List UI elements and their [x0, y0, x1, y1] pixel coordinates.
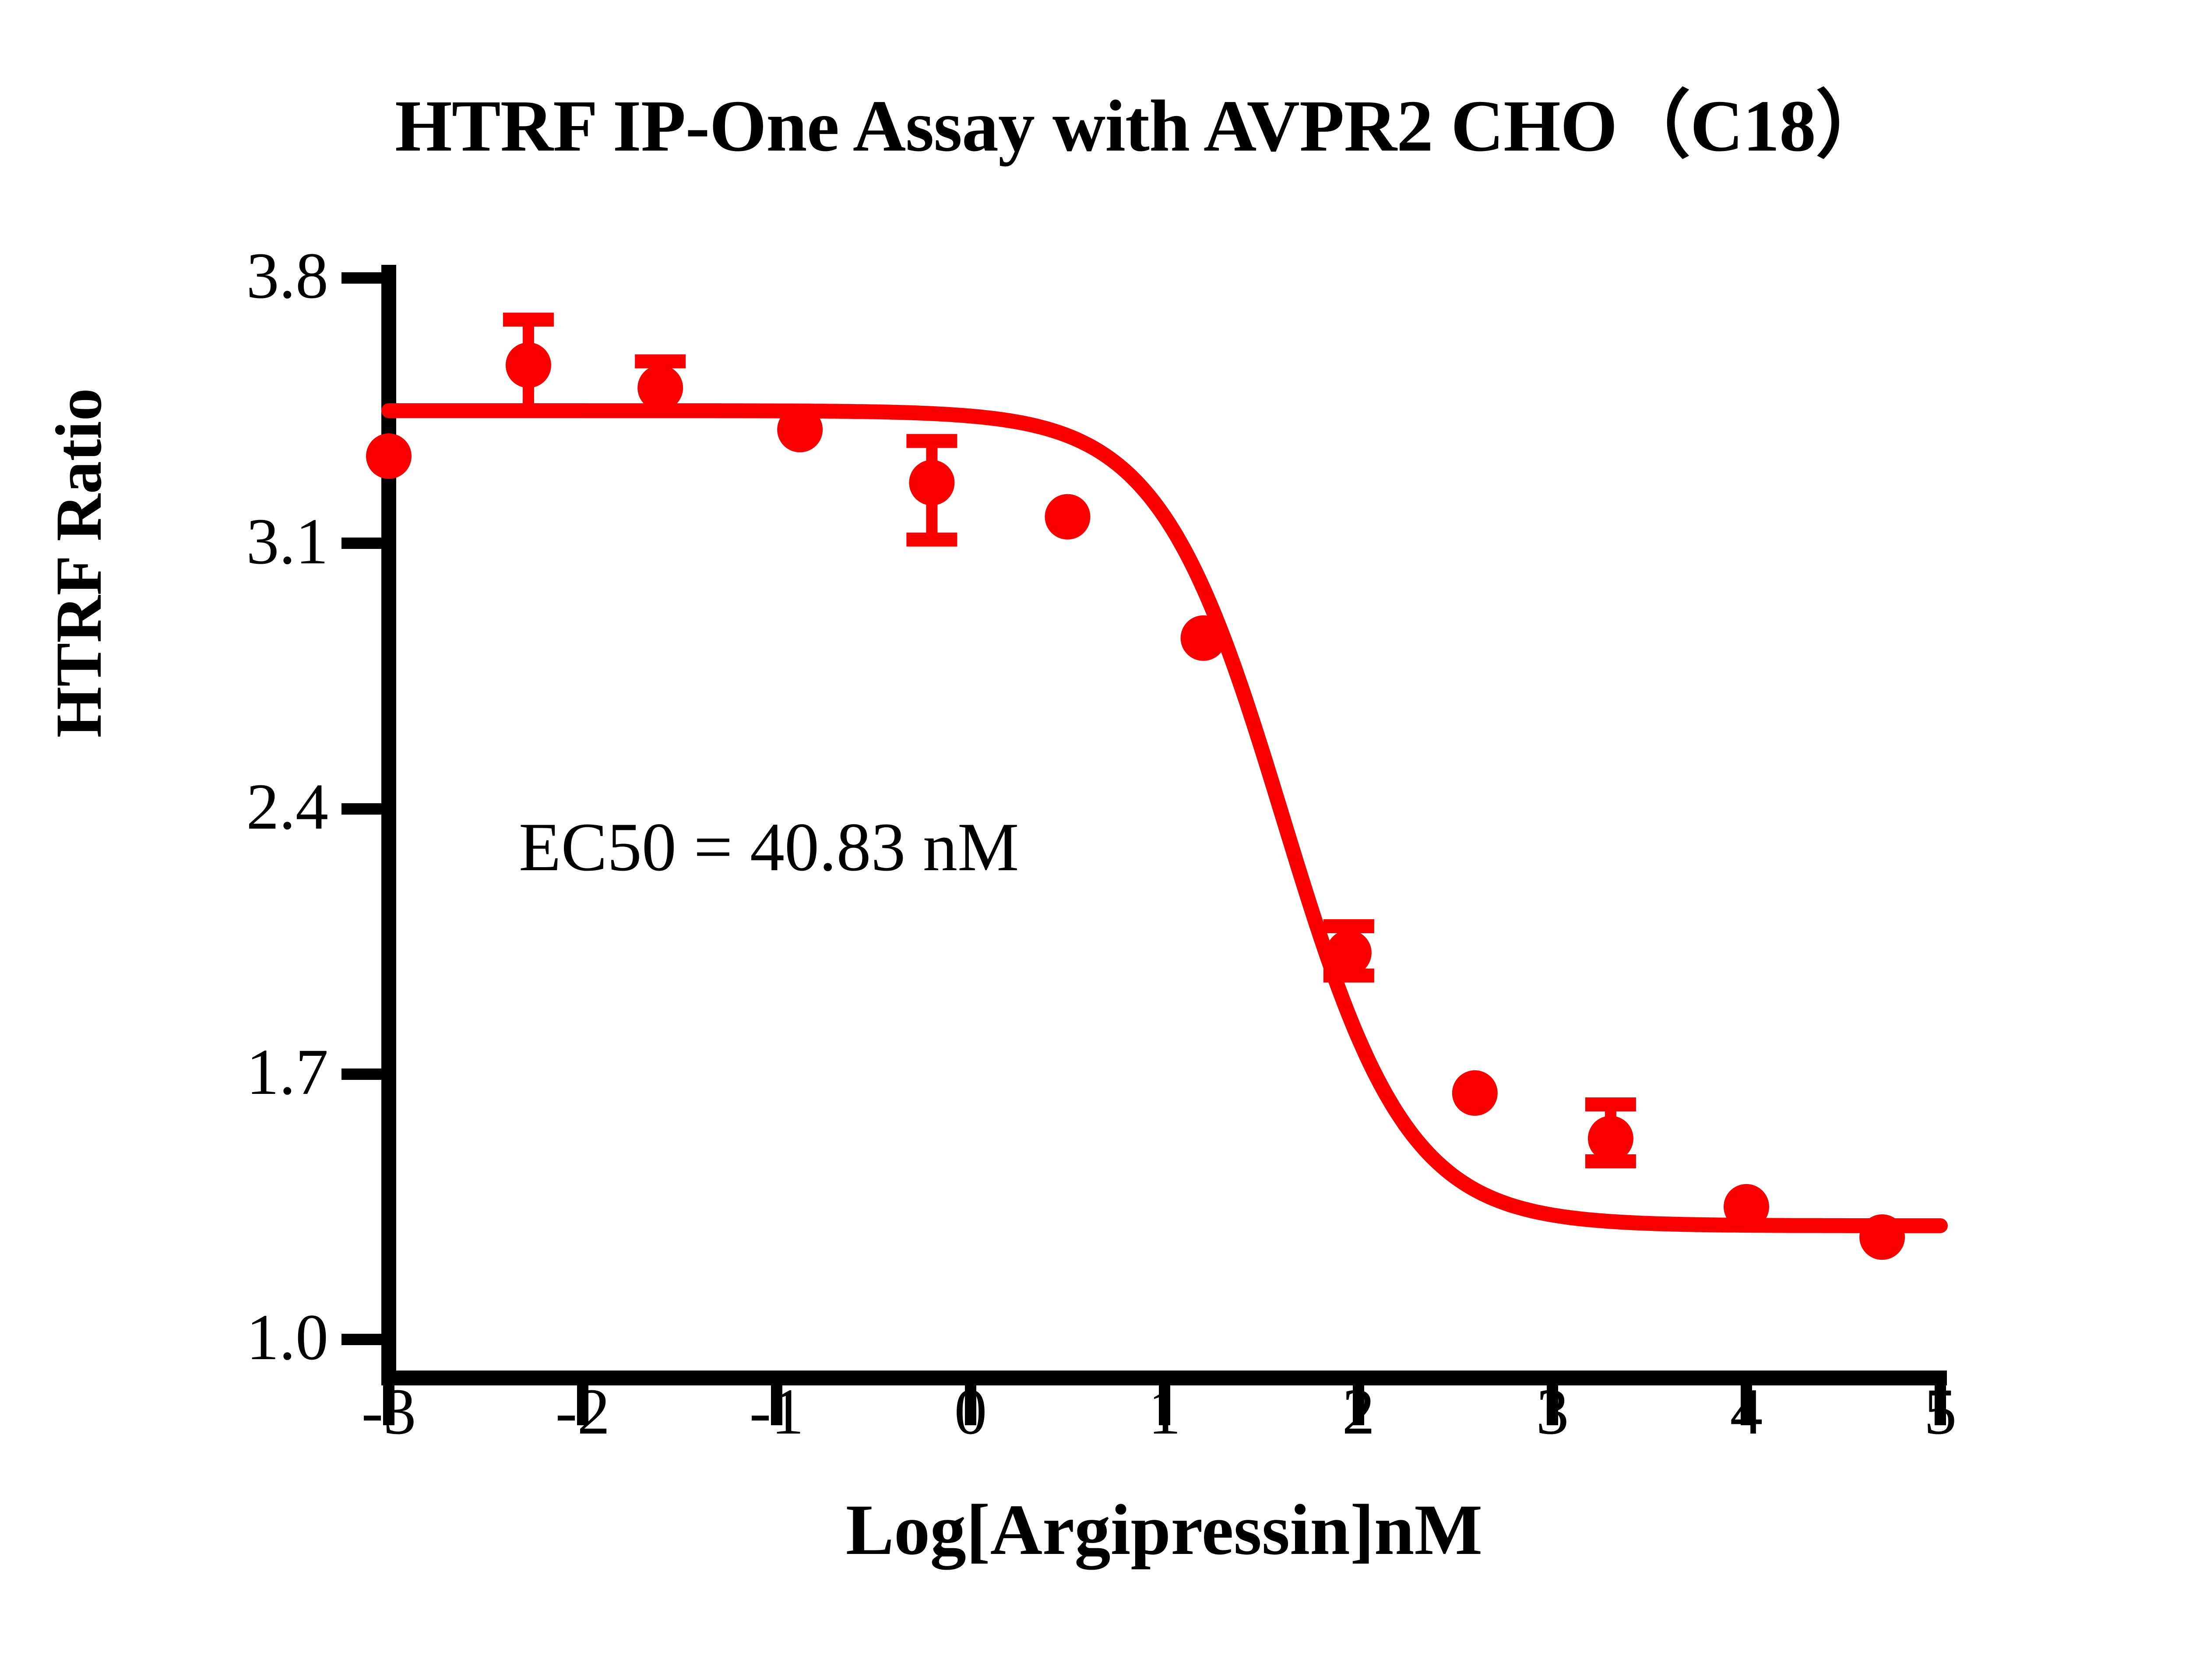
fit-curve-path — [389, 411, 1940, 1226]
data-point — [1452, 1070, 1498, 1116]
data-point — [1326, 930, 1372, 976]
data-point — [1724, 1184, 1769, 1230]
data-point — [1588, 1116, 1633, 1161]
chart-canvas: HTRF IP-One Assay with AVPR2 CHO（C18） HT… — [0, 0, 2189, 1680]
data-point — [1045, 494, 1091, 540]
error-bars — [503, 320, 1636, 1161]
data-point — [506, 342, 551, 388]
data-point — [637, 365, 683, 411]
plot-area — [0, 0, 2189, 1680]
data-point — [1859, 1214, 1905, 1260]
axis-lines — [341, 265, 1947, 1425]
data-point — [909, 460, 954, 506]
data-point — [1181, 615, 1226, 661]
data-point — [777, 407, 823, 452]
fit-curve — [389, 411, 1940, 1226]
data-point — [366, 433, 412, 479]
